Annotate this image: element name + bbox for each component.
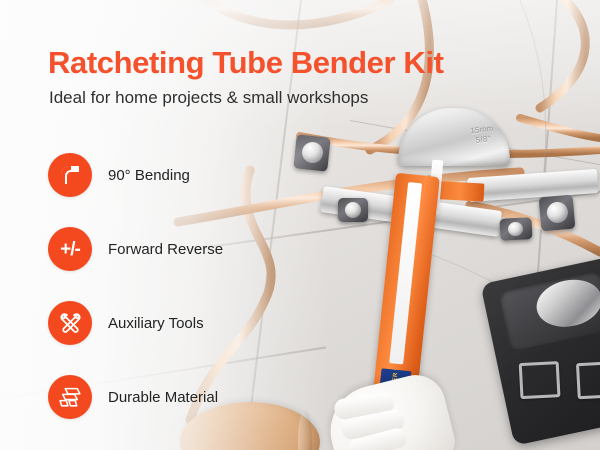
feature-item-durable-material: Durable Material [48, 374, 223, 420]
feature-label: Forward Reverse [108, 241, 223, 258]
page-subtitle: Ideal for home projects & small workshop… [49, 88, 368, 108]
feature-label: Auxiliary Tools [108, 315, 204, 332]
plus-minus-icon: +/- [48, 227, 92, 271]
feature-item-forward-reverse: +/- Forward Reverse [48, 226, 223, 272]
feature-item-auxiliary-tools: Auxiliary Tools [48, 300, 223, 346]
banner-content: Ratcheting Tube Bender Kit Ideal for hom… [0, 0, 600, 450]
product-banner: 15mm 5/8" TUBE BENDER KIT Ratcheting Tub… [0, 0, 600, 450]
feature-list: 90° Bending +/- Forward Reverse Au [48, 152, 223, 420]
feature-label: Durable Material [108, 389, 218, 406]
feature-label: 90° Bending [108, 167, 190, 184]
wrench-screwdriver-icon [48, 301, 92, 345]
page-title: Ratcheting Tube Bender Kit [48, 45, 444, 81]
plus-minus-glyph: +/- [60, 240, 80, 259]
feature-item-90-bending: 90° Bending [48, 152, 223, 198]
bend-90-icon [48, 153, 92, 197]
metal-bars-icon [48, 375, 92, 419]
